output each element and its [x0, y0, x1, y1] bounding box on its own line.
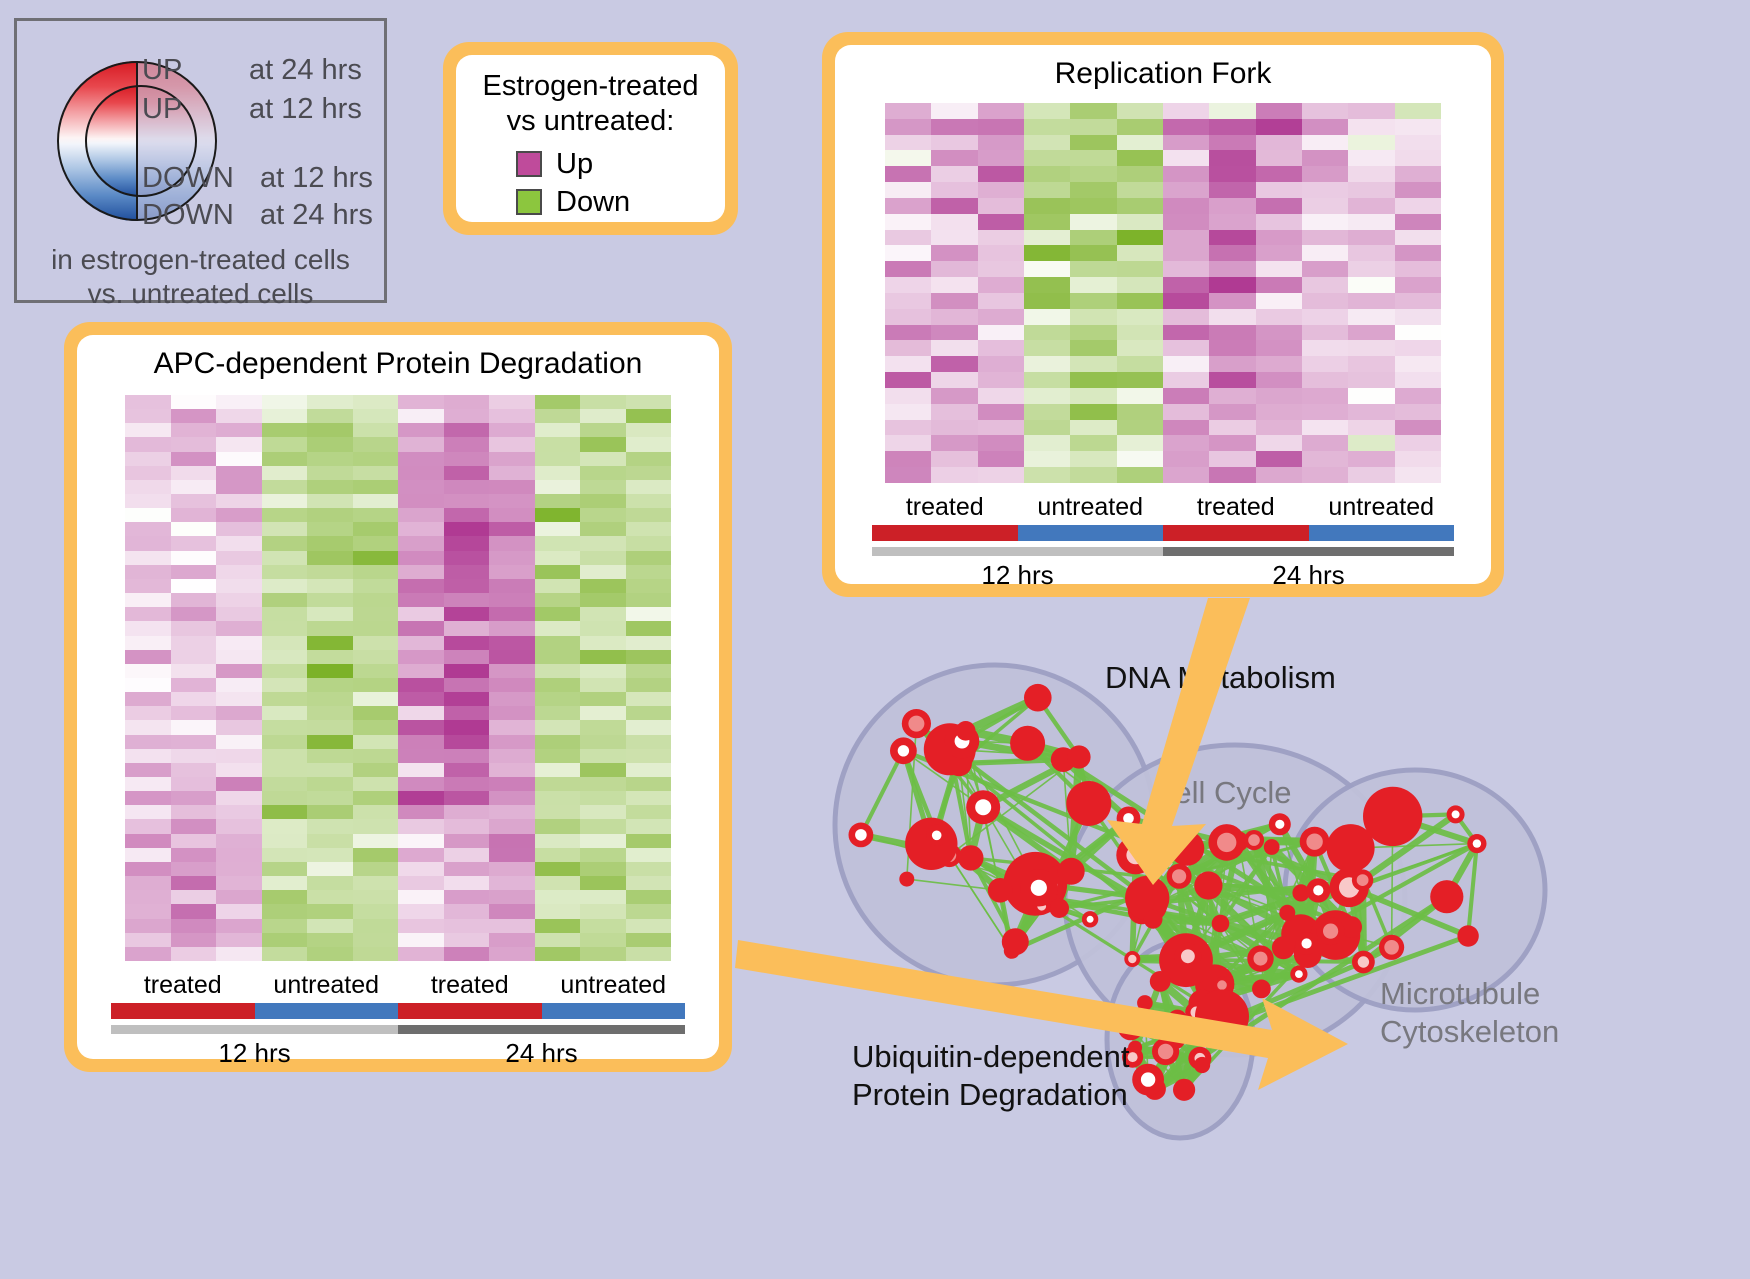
- heatmap-cell: [489, 904, 535, 918]
- network-node[interactable]: [1010, 726, 1045, 761]
- heatmap-cell: [1117, 214, 1163, 230]
- heatmap-cell: [1209, 372, 1255, 388]
- heatmap-cell: [216, 890, 262, 904]
- heatmap-cell: [171, 437, 217, 451]
- heatmap-cell: [1256, 467, 1302, 483]
- heatmap-cell: [262, 848, 308, 862]
- heatmap-cell: [307, 834, 353, 848]
- network-node[interactable]: [1195, 990, 1249, 1044]
- heatmap-cell: [1209, 404, 1255, 420]
- heatmap-cell: [1070, 135, 1116, 151]
- heatmap-cell: [535, 919, 581, 933]
- heatmap-cell: [626, 720, 672, 734]
- node-inner-fill: [1302, 938, 1312, 948]
- heatmap-cell: [1348, 467, 1394, 483]
- timepoint-label: 24 hrs: [1163, 560, 1454, 591]
- heatmap-cell: [978, 451, 1024, 467]
- heatmap-cell: [489, 480, 535, 494]
- heatmap-cell: [1302, 182, 1348, 198]
- network-node[interactable]: [1082, 911, 1098, 927]
- heatmap-cell: [1256, 214, 1302, 230]
- heatmap-cell: [353, 607, 399, 621]
- heatmap-cell: [1117, 245, 1163, 261]
- heatmap-cell: [398, 551, 444, 565]
- network-node[interactable]: [1002, 928, 1029, 955]
- heatmap-cell: [885, 356, 931, 372]
- heatmap-cell: [1302, 467, 1348, 483]
- node-outer-ring: [1279, 905, 1295, 921]
- network-node[interactable]: [1117, 807, 1141, 831]
- network-node[interactable]: [890, 737, 917, 764]
- network-node[interactable]: [1295, 932, 1318, 955]
- network-node[interactable]: [1300, 827, 1330, 857]
- heatmap-cell: [307, 664, 353, 678]
- heatmap-cell: [444, 466, 490, 480]
- heatmap-cell: [1348, 420, 1394, 436]
- heatmap-cell: [1024, 420, 1070, 436]
- heatmap-cell: [216, 565, 262, 579]
- network-node[interactable]: [1169, 831, 1204, 866]
- heatmap-cell: [1163, 182, 1209, 198]
- network-node[interactable]: [1327, 824, 1375, 872]
- heatmap-cell: [307, 437, 353, 451]
- heatmap-cell: [1348, 372, 1394, 388]
- heatmap-cell: [444, 862, 490, 876]
- network-node[interactable]: [1264, 839, 1280, 855]
- condition-color-segment: [255, 1003, 399, 1019]
- heatmap-cell: [1395, 451, 1441, 467]
- heatmap-cell: [1163, 372, 1209, 388]
- network-node[interactable]: [899, 872, 914, 887]
- heatmap-cell: [171, 876, 217, 890]
- heatmap-cell: [171, 480, 217, 494]
- heatmap-cell: [1256, 150, 1302, 166]
- network-node[interactable]: [849, 823, 874, 848]
- heatmap-cell: [626, 919, 672, 933]
- heatmap-cell: [216, 522, 262, 536]
- heatmap-cell: [1117, 230, 1163, 246]
- heatmap-cell: [398, 522, 444, 536]
- heatmap-cell: [1209, 150, 1255, 166]
- node-outer-ring: [1173, 1079, 1195, 1101]
- heatmap-cell: [535, 607, 581, 621]
- heatmap-cell: [125, 791, 171, 805]
- heatmap-cell: [216, 437, 262, 451]
- heatmap-cell: [1070, 230, 1116, 246]
- heatmap-cell: [1070, 277, 1116, 293]
- network-node[interactable]: [1116, 836, 1155, 875]
- heatmap-cell: [535, 749, 581, 763]
- network-node[interactable]: [1379, 935, 1404, 960]
- heatmap-cell: [978, 277, 1024, 293]
- heatmap-cell: [262, 508, 308, 522]
- network-node[interactable]: [1467, 834, 1486, 853]
- heatmap-cell: [1070, 435, 1116, 451]
- heatmap-cell: [262, 890, 308, 904]
- heatmap-cell: [1070, 119, 1116, 135]
- network-node[interactable]: [1174, 943, 1201, 970]
- heatmap-cell: [931, 277, 977, 293]
- network-node[interactable]: [1067, 745, 1090, 768]
- heatmap-cell: [262, 494, 308, 508]
- heatmap-cell: [535, 678, 581, 692]
- node-inner-fill: [1254, 952, 1268, 966]
- network-node[interactable]: [1024, 684, 1052, 712]
- node-inner-fill: [1358, 956, 1369, 967]
- heatmap-cell: [171, 749, 217, 763]
- network-node[interactable]: [1279, 905, 1295, 921]
- heatmap-cell: [1348, 293, 1394, 309]
- network-node[interactable]: [1194, 871, 1222, 899]
- network-node[interactable]: [1066, 781, 1111, 826]
- heatmap-cell: [1348, 198, 1394, 214]
- heatmap-cell: [978, 356, 1024, 372]
- network-node[interactable]: [1272, 936, 1295, 959]
- network-node[interactable]: [1058, 858, 1085, 885]
- heatmap-cell: [262, 876, 308, 890]
- heatmap-cell: [307, 890, 353, 904]
- apc-axis: treateduntreatedtreateduntreated 12 hrs2…: [111, 971, 685, 1069]
- heatmap-cell: [125, 706, 171, 720]
- heatmap-cell: [171, 791, 217, 805]
- heatmap-cell: [489, 862, 535, 876]
- network-node[interactable]: [966, 790, 1000, 824]
- heatmap-cell: [535, 791, 581, 805]
- heatmap-cell: [307, 706, 353, 720]
- node-inner-fill: [932, 831, 942, 841]
- heatmap-cell: [535, 395, 581, 409]
- heatmap-cell: [1070, 166, 1116, 182]
- heatmap-cell: [626, 480, 672, 494]
- heatmap-cell: [125, 904, 171, 918]
- network-node[interactable]: [1430, 880, 1463, 913]
- heatmap-cell: [398, 678, 444, 692]
- condition-color-segment: [398, 1003, 542, 1019]
- heatmap-cell: [216, 664, 262, 678]
- network-node[interactable]: [1144, 910, 1163, 929]
- heatmap-cell: [216, 607, 262, 621]
- heatmap-cell: [1256, 356, 1302, 372]
- heatmap-cell: [125, 494, 171, 508]
- heatmap-cell: [1117, 135, 1163, 151]
- heatmap-cell: [535, 536, 581, 550]
- cluster-label-cell-cycle: Cell Cycle: [1152, 775, 1292, 811]
- network-node[interactable]: [926, 825, 947, 846]
- heatmap-cell: [262, 904, 308, 918]
- heatmap-cell: [1256, 135, 1302, 151]
- heatmap-cell: [1395, 261, 1441, 277]
- heatmap-cell: [885, 467, 931, 483]
- network-node[interactable]: [902, 709, 931, 738]
- heatmap-cell: [353, 423, 399, 437]
- network-node[interactable]: [988, 878, 1013, 903]
- heatmap-cell: [885, 103, 931, 119]
- network-node[interactable]: [1169, 1033, 1184, 1048]
- heatmap-cell: [535, 947, 581, 961]
- heatmap-cell: [580, 621, 626, 635]
- legend-time-down-24: at 24 hrs: [260, 199, 373, 232]
- heatmap-cell: [978, 150, 1024, 166]
- heatmap-cell: [1256, 277, 1302, 293]
- heatmap-cell: [444, 636, 490, 650]
- heatmap-cell: [444, 777, 490, 791]
- heatmap-cell: [1348, 325, 1394, 341]
- heatmap-cell: [1348, 150, 1394, 166]
- heatmap-cell: [1302, 340, 1348, 356]
- heatmap-cell: [535, 522, 581, 536]
- heatmap-cell: [307, 636, 353, 650]
- heatmap-cell: [1348, 166, 1394, 182]
- heatmap-cell: [398, 890, 444, 904]
- heatmap-cell: [1024, 293, 1070, 309]
- node-outer-ring: [988, 878, 1013, 903]
- heatmap-cell: [580, 522, 626, 536]
- heatmap-cell: [535, 409, 581, 423]
- heatmap-cell: [1024, 182, 1070, 198]
- heatmap-cell: [171, 819, 217, 833]
- heatmap-cell: [885, 293, 931, 309]
- heatmap-cell: [1117, 119, 1163, 135]
- node-inner-fill: [1172, 1014, 1182, 1024]
- heatmap-cell: [353, 480, 399, 494]
- heatmap-cell: [1024, 356, 1070, 372]
- heatmap-cell: [535, 593, 581, 607]
- heatmap-cell: [307, 621, 353, 635]
- network-node[interactable]: [1132, 1064, 1164, 1096]
- heatmap-cell: [353, 933, 399, 947]
- heatmap-cell: [353, 805, 399, 819]
- legend-time-down-12: at 12 hrs: [260, 162, 373, 195]
- node-inner-fill: [1323, 924, 1338, 939]
- heatmap-cell: [444, 692, 490, 706]
- legend-caption-line2: vs. untreated cells: [17, 277, 384, 311]
- heatmap-cell: [885, 404, 931, 420]
- heatmap-cell: [1256, 325, 1302, 341]
- heatmap-cell: [398, 834, 444, 848]
- network-node[interactable]: [1317, 917, 1345, 945]
- heatmap-cell: [1395, 325, 1441, 341]
- network-node[interactable]: [1118, 1015, 1143, 1040]
- node-inner-fill: [1384, 940, 1399, 955]
- heatmap-cell: [626, 536, 672, 550]
- network-node[interactable]: [1173, 1079, 1195, 1101]
- heatmap-cell: [125, 636, 171, 650]
- heatmap-cell: [262, 763, 308, 777]
- heatmap-cell: [931, 198, 977, 214]
- network-node[interactable]: [1212, 915, 1230, 933]
- heatmap-cell: [1024, 309, 1070, 325]
- network-node[interactable]: [1137, 995, 1153, 1011]
- heatmap-cell: [353, 494, 399, 508]
- heatmap-cell: [444, 805, 490, 819]
- heatmap-cell: [444, 876, 490, 890]
- heatmap-cell: [1070, 214, 1116, 230]
- network-node[interactable]: [1208, 824, 1245, 861]
- heatmap-cell: [1024, 150, 1070, 166]
- heatmap-cell: [885, 245, 931, 261]
- heatmap-cell: [931, 420, 977, 436]
- node-inner-fill: [1126, 846, 1144, 864]
- heatmap-cell: [444, 536, 490, 550]
- heatmap-cell: [1163, 451, 1209, 467]
- node-outer-ring: [1272, 936, 1295, 959]
- network-node[interactable]: [1269, 813, 1291, 835]
- heatmap-cell: [931, 119, 977, 135]
- network-node[interactable]: [1020, 869, 1057, 906]
- heatmap-cell: [535, 494, 581, 508]
- node-inner-fill: [908, 716, 924, 732]
- network-node[interactable]: [958, 845, 983, 870]
- heatmap-cell: [580, 692, 626, 706]
- node-outer-ring: [958, 845, 983, 870]
- heatmap-cell: [535, 834, 581, 848]
- apc-inner: APC-dependent Protein Degradation treate…: [77, 335, 719, 1059]
- heatmap-cell: [1163, 467, 1209, 483]
- heatmap-cell: [307, 876, 353, 890]
- heatmap-cell: [353, 551, 399, 565]
- heatmap-cell: [535, 692, 581, 706]
- heatmap-cell: [398, 621, 444, 635]
- network-node[interactable]: [1247, 945, 1273, 971]
- heatmap-cell: [398, 508, 444, 522]
- heatmap-cell: [1070, 388, 1116, 404]
- heatmap-cell: [1302, 277, 1348, 293]
- network-node[interactable]: [1252, 980, 1271, 999]
- heatmap-cell: [216, 480, 262, 494]
- network-node[interactable]: [1194, 1057, 1210, 1073]
- heatmap-cell: [931, 325, 977, 341]
- node-inner-fill: [1181, 949, 1195, 963]
- heatmap-cell: [626, 650, 672, 664]
- heatmap-cell: [1256, 404, 1302, 420]
- heatmap-cell: [489, 664, 535, 678]
- heatmap-cell: [353, 593, 399, 607]
- heatmap-cell: [931, 230, 977, 246]
- condition-color-segment: [1018, 525, 1164, 541]
- heatmap-cell: [535, 621, 581, 635]
- heatmap-cell: [580, 536, 626, 550]
- heatmap-cell: [1395, 340, 1441, 356]
- heatmap-cell: [125, 452, 171, 466]
- heatmap-cell: [444, 565, 490, 579]
- heatmap-cell: [171, 664, 217, 678]
- heatmap-cell: [1163, 230, 1209, 246]
- heatmap-cell: [1070, 325, 1116, 341]
- network-node[interactable]: [1049, 898, 1069, 918]
- heatmap-cell: [353, 749, 399, 763]
- heatmap-cell: [353, 834, 399, 848]
- heatmap-cell: [1163, 135, 1209, 151]
- heatmap-cell: [307, 904, 353, 918]
- heatmap-cell: [444, 678, 490, 692]
- node-inner-fill: [1306, 834, 1322, 850]
- network-node[interactable]: [1457, 925, 1478, 946]
- heatmap-cell: [444, 508, 490, 522]
- node-outer-ring: [1150, 971, 1171, 992]
- heatmap-cell: [444, 664, 490, 678]
- heatmap-cell: [489, 522, 535, 536]
- heatmap-cell: [489, 735, 535, 749]
- heatmap-cell: [1302, 166, 1348, 182]
- heatmap-cell: [262, 933, 308, 947]
- heatmap-cell: [398, 536, 444, 550]
- heatmap-cell: [885, 388, 931, 404]
- heatmap-cell: [307, 551, 353, 565]
- node-outer-ring: [1212, 915, 1230, 933]
- node-outer-ring: [1137, 995, 1153, 1011]
- network-node[interactable]: [1167, 864, 1192, 889]
- heatmap-cell: [626, 876, 672, 890]
- heatmap-cell: [535, 890, 581, 904]
- heatmap-cell: [353, 565, 399, 579]
- heatmap-cell: [1256, 293, 1302, 309]
- heatmap-cell: [535, 423, 581, 437]
- network-node[interactable]: [1150, 971, 1171, 992]
- heatmap-cell: [1256, 372, 1302, 388]
- network-node[interactable]: [1352, 869, 1373, 890]
- heatmap-cell: [978, 119, 1024, 135]
- heatmap-cell: [626, 706, 672, 720]
- heatmap-cell: [1117, 182, 1163, 198]
- network-node[interactable]: [1168, 1010, 1188, 1030]
- node-outer-ring: [1067, 745, 1090, 768]
- heatmap-cell: [885, 198, 931, 214]
- node-outer-ring: [1194, 1057, 1210, 1073]
- network-node[interactable]: [956, 721, 976, 741]
- heatmap-cell: [535, 933, 581, 947]
- network-node[interactable]: [1306, 878, 1330, 902]
- network-node[interactable]: [1447, 805, 1465, 823]
- heatmap-cell: [353, 692, 399, 706]
- heatmap-cell: [626, 395, 672, 409]
- heatmap-cell: [444, 395, 490, 409]
- node-inner-fill: [1313, 885, 1323, 895]
- heatmap-cell: [398, 636, 444, 650]
- node-outer-ring: [1010, 726, 1045, 761]
- network-node[interactable]: [1124, 951, 1140, 967]
- heatmap-cell: [626, 565, 672, 579]
- heatmap-cell: [1070, 451, 1116, 467]
- heatmap-cell: [978, 198, 1024, 214]
- heatmap-cell: [444, 593, 490, 607]
- heatmap-cell: [1070, 245, 1116, 261]
- heatmap-cell: [1117, 150, 1163, 166]
- heatmap-cell: [1256, 198, 1302, 214]
- heatmap-cell: [885, 214, 931, 230]
- heatmap-cell: [444, 890, 490, 904]
- figure-canvas: UP at 24 hrs UP at 12 hrs DOWN at 12 hrs…: [0, 0, 1750, 1279]
- heatmap-cell: [626, 834, 672, 848]
- heatmap-cell: [1070, 420, 1116, 436]
- heatmap-cell: [1209, 261, 1255, 277]
- apc-panel: APC-dependent Protein Degradation treate…: [64, 322, 732, 1072]
- heatmap-cell: [1163, 309, 1209, 325]
- heatmap-cell: [1209, 277, 1255, 293]
- network-node[interactable]: [1244, 830, 1264, 850]
- heatmap-cell: [262, 720, 308, 734]
- network-node[interactable]: [1290, 966, 1307, 983]
- network-node[interactable]: [1352, 951, 1375, 974]
- heatmap-cell: [1395, 166, 1441, 182]
- heatmap-cell: [398, 466, 444, 480]
- heatmap-cell: [1302, 150, 1348, 166]
- heatmap-cell: [216, 650, 262, 664]
- heatmap-cell: [626, 551, 672, 565]
- heatmap-cell: [444, 437, 490, 451]
- heatmap-cell: [353, 904, 399, 918]
- heatmap-cell: [1348, 435, 1394, 451]
- heatmap-cell: [171, 522, 217, 536]
